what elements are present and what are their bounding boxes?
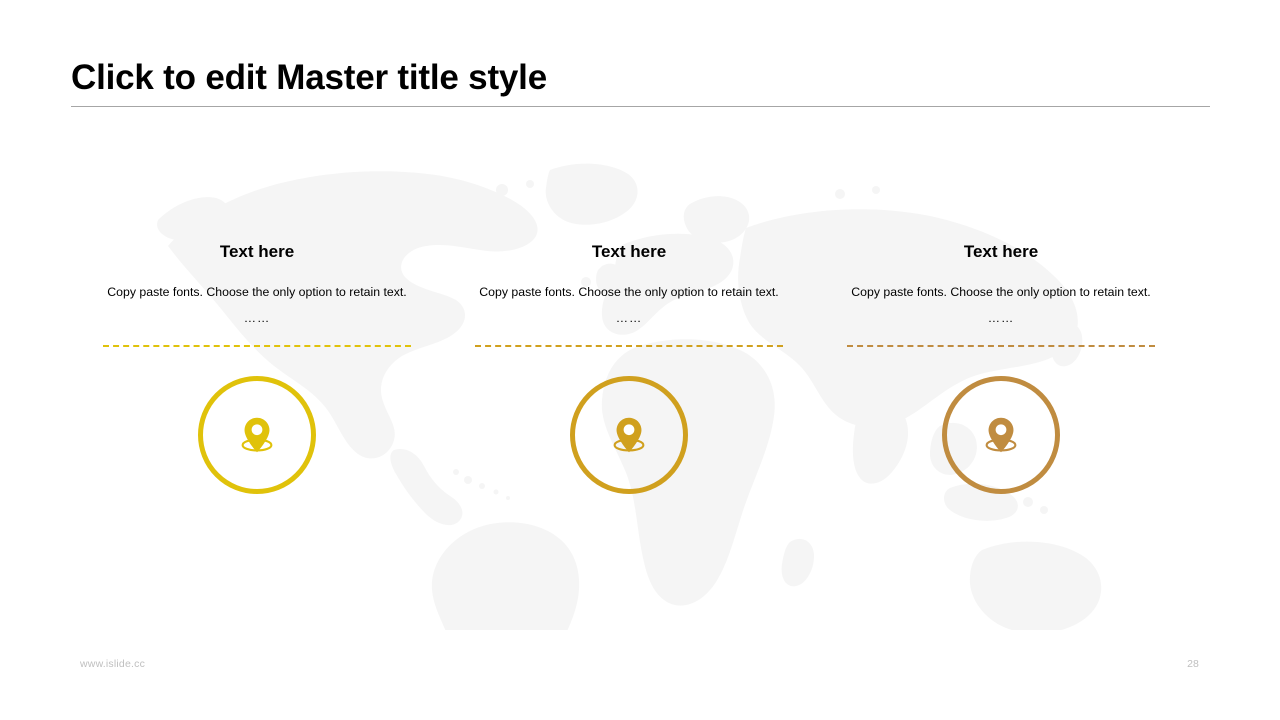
column-1-ellipsis: ……: [244, 305, 271, 331]
column-1-body[interactable]: Copy paste fonts. Choose the only option…: [107, 279, 407, 305]
title-underline-rule: [71, 106, 1210, 107]
column-3-divider: [847, 345, 1155, 347]
column-1-divider: [103, 345, 411, 347]
content-columns: Text here Copy paste fonts. Choose the o…: [71, 240, 1210, 494]
title-block: Click to edit Master title style: [71, 55, 1210, 107]
map-pin-icon: [234, 412, 280, 458]
column-2: Text here Copy paste fonts. Choose the o…: [443, 240, 815, 494]
column-3-heading[interactable]: Text here: [964, 240, 1038, 264]
page-title[interactable]: Click to edit Master title style: [71, 55, 1210, 101]
column-3-icon-ring[interactable]: [942, 376, 1060, 494]
column-3-ellipsis: ……: [988, 305, 1015, 331]
page-number: 28: [1178, 658, 1208, 670]
column-2-ellipsis: ……: [616, 305, 643, 331]
column-2-divider: [475, 345, 783, 347]
column-2-icon-ring[interactable]: [570, 376, 688, 494]
column-3-body[interactable]: Copy paste fonts. Choose the only option…: [851, 279, 1151, 305]
column-1-heading[interactable]: Text here: [220, 240, 294, 264]
column-2-body[interactable]: Copy paste fonts. Choose the only option…: [479, 279, 779, 305]
column-1: Text here Copy paste fonts. Choose the o…: [71, 240, 443, 494]
map-pin-icon: [978, 412, 1024, 458]
column-1-icon-ring[interactable]: [198, 376, 316, 494]
column-3: Text here Copy paste fonts. Choose the o…: [815, 240, 1187, 494]
column-2-heading[interactable]: Text here: [592, 240, 666, 264]
footer-website[interactable]: www.islide.cc: [80, 658, 145, 670]
map-pin-icon: [606, 412, 652, 458]
